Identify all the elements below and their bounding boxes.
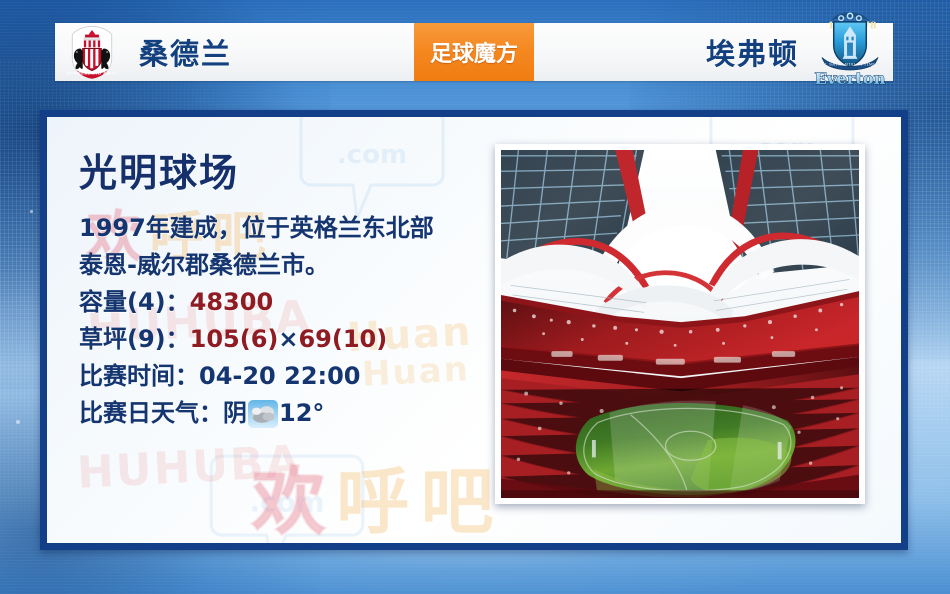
- watermark-brand-cn-2: 呼: [336, 460, 414, 545]
- pitch-times: ×: [278, 325, 298, 353]
- background-spark: [30, 210, 33, 213]
- watermark-brand-cn-1: 欢: [252, 460, 330, 545]
- weather-condition: 阴: [223, 399, 247, 427]
- pitch-row: 草坪(9)：105(6)×69(10): [79, 321, 499, 358]
- svg-text:NIL SATIS NISI OPTIMUM: NIL SATIS NISI OPTIMUM: [819, 62, 882, 67]
- away-team-name: 埃弗顿: [706, 31, 799, 73]
- stadium-name: 光明球场: [79, 142, 499, 197]
- stadium-details: 光明球场 1997年建成，位于英格兰东北部 泰恩-威尔郡桑德兰市。 容量(4)：…: [79, 142, 499, 432]
- everton-crest-icon: 18 78 NIL SATIS NISI OPTIMUM Everton: [813, 10, 887, 90]
- stadium-info-panel: .com .com .com HUHUBA HUHUBA Huan Huan 欢…: [40, 110, 908, 550]
- stadium-photo: [501, 150, 859, 498]
- home-team-block[interactable]: SUNDERLAND A.F.C. 桑德兰: [55, 23, 232, 81]
- match-header-bar: SUNDERLAND A.F.C. 桑德兰 足球魔方 埃弗顿: [55, 23, 893, 81]
- home-team-name: 桑德兰: [139, 31, 232, 73]
- weather-label: 比赛日天气: [79, 399, 199, 427]
- away-team-block[interactable]: 埃弗顿: [706, 23, 893, 81]
- svg-text:.com: .com: [250, 486, 325, 519]
- capacity-label: 容量(4): [79, 288, 166, 316]
- weather-separator: ：: [199, 399, 223, 427]
- sunderland-crest-icon: SUNDERLAND A.F.C.: [63, 23, 121, 81]
- watermark-brand-latin: HUHUBA: [76, 436, 303, 499]
- pitch-label: 草坪(9): [79, 325, 166, 353]
- stadium-description-line-1: 1997年建成，位于英格兰东北部: [79, 210, 499, 247]
- weather-row: 比赛日天气：阴12°: [79, 395, 499, 432]
- watermark-speech-bubble: .com: [207, 447, 367, 550]
- match-time-row: 比赛时间：04-20 22:00: [79, 358, 499, 395]
- pitch-separator: ：: [166, 325, 190, 353]
- capacity-row: 容量(4)：48300: [79, 284, 499, 321]
- pitch-length: 105(6): [190, 325, 279, 353]
- capacity-value: 48300: [190, 288, 274, 316]
- stadium-description-line-2: 泰恩-威尔郡桑德兰市。: [79, 247, 499, 284]
- svg-text:Everton: Everton: [815, 69, 886, 88]
- match-time-separator: ：: [175, 362, 199, 390]
- capacity-separator: ：: [166, 288, 190, 316]
- weather-temperature: 12°: [279, 399, 324, 427]
- site-logo-text: 足球魔方: [430, 36, 518, 68]
- pitch-width: 69(10): [298, 325, 387, 353]
- watermark-brand-cn-3: 吧: [421, 460, 499, 545]
- cloud-icon: [248, 400, 278, 428]
- match-time-value: 04-20 22:00: [199, 362, 361, 390]
- watermark-brand-cn-group: 欢 呼 吧: [252, 442, 499, 549]
- match-time-label: 比赛时间: [79, 362, 175, 390]
- background-spark: [16, 420, 20, 424]
- site-logo[interactable]: 足球魔方: [414, 23, 534, 81]
- stadium-photo-frame[interactable]: [495, 144, 865, 504]
- svg-text:SUNDERLAND A.F.C.: SUNDERLAND A.F.C.: [67, 71, 117, 76]
